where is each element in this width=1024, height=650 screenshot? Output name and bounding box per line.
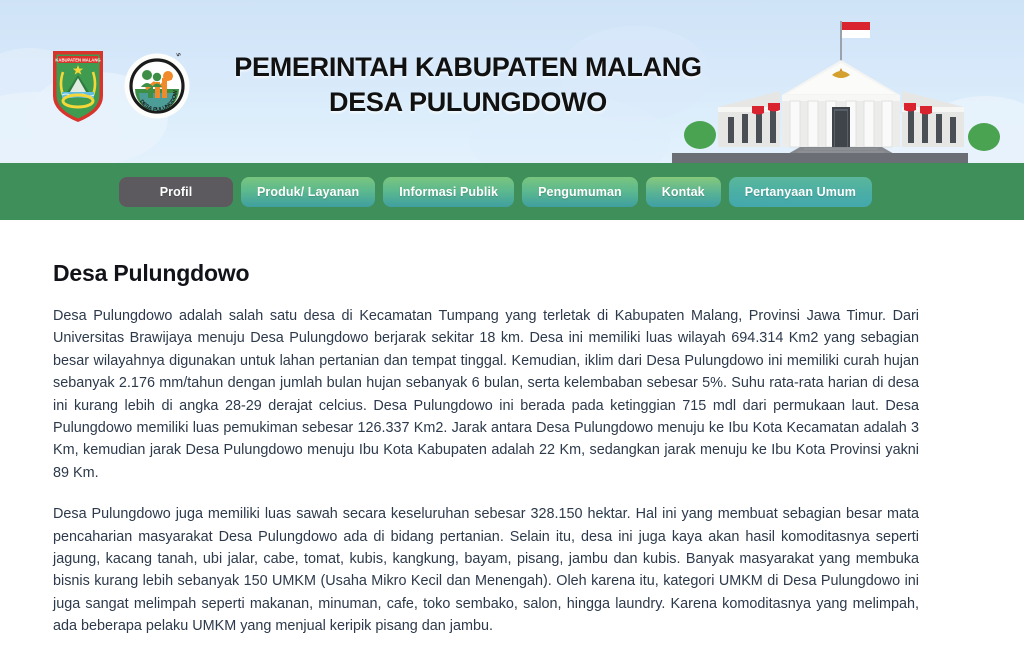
site-header: KABUPATEN MALANG <box>0 0 1024 163</box>
main-navigation: Profil Produk/ Layanan Informasi Publik … <box>0 163 1024 220</box>
indonesia-flag-icon <box>842 22 870 30</box>
header-title-block: PEMERINTAH KABUPATEN MALANG DESA PULUNGD… <box>218 50 718 119</box>
page-title-line-1: PEMERINTAH KABUPATEN MALANG <box>218 50 718 85</box>
content-page-title: Desa Pulungdowo <box>53 260 971 287</box>
pkm-feb-ub-2025-badge-icon: PKM FEB UB 2025 DESA PULUNGDOWO <box>124 53 190 119</box>
page-title-line-2: DESA PULUNGDOWO <box>218 85 718 120</box>
main-content: Desa Pulungdowo Desa Pulungdowo adalah s… <box>0 220 1024 650</box>
nav-item-kontak[interactable]: Kontak <box>646 177 721 207</box>
government-building-illustration-icon <box>672 13 1012 163</box>
nav-item-informasi-publik[interactable]: Informasi Publik <box>383 177 514 207</box>
crest-banner-text: KABUPATEN MALANG <box>55 58 100 63</box>
nav-item-pertanyaan-umum[interactable]: Pertanyaan Umum <box>729 177 872 207</box>
nav-item-produk-layanan[interactable]: Produk/ Layanan <box>241 177 375 207</box>
nav-item-profil[interactable]: Profil <box>119 177 233 207</box>
nav-item-pengumuman[interactable]: Pengumuman <box>522 177 638 207</box>
content-paragraph-1: Desa Pulungdowo adalah salah satu desa d… <box>53 305 919 484</box>
content-paragraph-2: Desa Pulungdowo juga memiliki luas sawah… <box>53 503 919 637</box>
nav-list: Profil Produk/ Layanan Informasi Publik … <box>119 177 872 207</box>
kabupaten-malang-coat-of-arms-icon: KABUPATEN MALANG <box>50 48 106 124</box>
header-logos: KABUPATEN MALANG <box>50 48 190 124</box>
